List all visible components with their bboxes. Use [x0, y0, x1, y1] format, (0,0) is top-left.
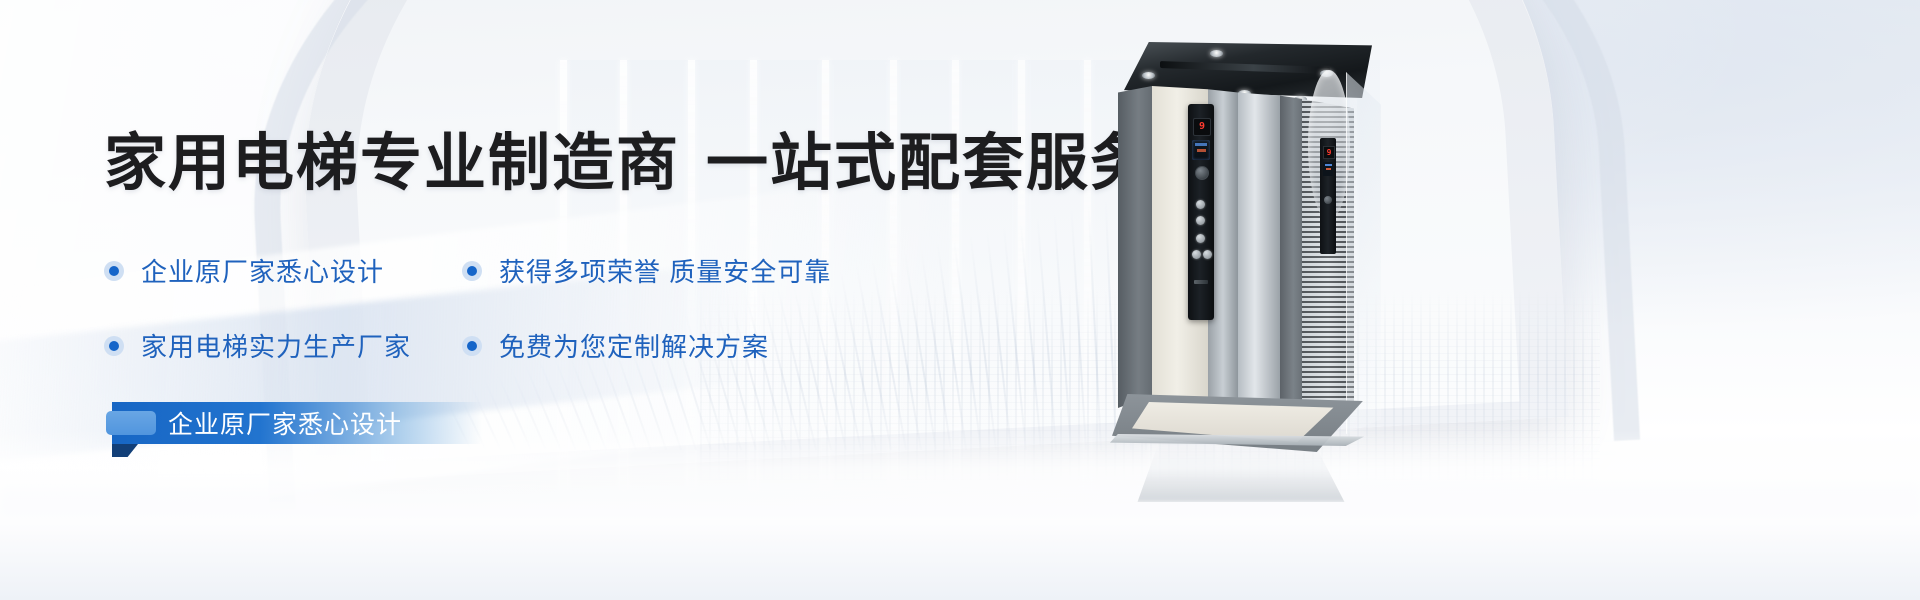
door-open-button[interactable]: [1192, 250, 1201, 259]
brand-plate: [1194, 280, 1208, 284]
floor-indicator-display-rear: 9: [1323, 146, 1335, 159]
ceiling-spotlight-icon: [1210, 50, 1223, 57]
list-item: 企业原厂家悉心设计: [104, 252, 462, 289]
floor-indicator-value-rear: 9: [1324, 147, 1334, 158]
feature-row: 企业原厂家悉心设计 获得多项荣誉 质量安全可靠: [104, 252, 1004, 289]
bullet-dot-icon: [462, 336, 482, 356]
floor-button[interactable]: [1196, 200, 1205, 209]
feature-list: 企业原厂家悉心设计 获得多项荣誉 质量安全可靠 家用电梯实力生产厂家 免费为您定…: [104, 252, 1004, 402]
speaker-icon: [1195, 166, 1209, 180]
wall-panel-left: [1118, 86, 1152, 408]
floor-button[interactable]: [1196, 216, 1205, 225]
feature-label: 免费为您定制解决方案: [499, 327, 769, 364]
tab-marker-icon: [106, 411, 156, 435]
bullet-dot-icon: [104, 261, 124, 281]
bullet-dot-icon: [104, 336, 124, 356]
tab-notch-icon: [112, 444, 138, 457]
highlight-tab[interactable]: 企业原厂家悉心设计: [112, 402, 482, 444]
feature-label: 获得多项荣誉 质量安全可靠: [499, 252, 831, 289]
floor-indicator-value: 9: [1199, 122, 1205, 132]
speaker-icon-rear: [1324, 196, 1332, 204]
floor-button[interactable]: [1196, 234, 1205, 243]
wall-panel-dark: [1280, 86, 1302, 408]
feature-label: 家用电梯实力生产厂家: [141, 327, 411, 364]
ceiling-spotlight-icon: [1142, 72, 1155, 79]
list-item: 获得多项荣誉 质量安全可靠: [462, 252, 831, 289]
floor-indicator-display: 9: [1193, 118, 1211, 136]
control-panel-rear[interactable]: 9: [1320, 138, 1336, 254]
hero-banner: 家用电梯专业制造商一站式配套服务 企业原厂家悉心设计 获得多项荣誉 质量安全可靠…: [0, 0, 1920, 600]
elevator-product-image: 9 9: [1118, 42, 1378, 420]
headline-part-1: 家用电梯专业制造商: [104, 129, 680, 198]
door-close-button[interactable]: [1203, 250, 1212, 259]
headline-part-2: 一站式配套服务: [706, 129, 1154, 198]
list-item: 免费为您定制解决方案: [462, 327, 769, 364]
feature-row: 家用电梯实力生产厂家 免费为您定制解决方案: [104, 327, 1004, 364]
ceiling-light-strip: [1160, 61, 1330, 74]
banner-content: 家用电梯专业制造商一站式配套服务 企业原厂家悉心设计 获得多项荣誉 质量安全可靠…: [0, 0, 1120, 600]
tab-label: 企业原厂家悉心设计: [168, 405, 402, 441]
elevator-cabin: 9 9: [1118, 42, 1378, 420]
elevator-glass-side: [1346, 72, 1381, 434]
page-title: 家用电梯专业制造商一站式配套服务: [104, 112, 1154, 202]
bullet-dot-icon: [462, 261, 482, 281]
list-item: 家用电梯实力生产厂家: [104, 327, 462, 364]
feature-label: 企业原厂家悉心设计: [141, 252, 384, 289]
control-panel[interactable]: 9: [1188, 104, 1214, 320]
lcd-screen: [1192, 140, 1210, 160]
lcd-screen-rear: [1323, 162, 1333, 176]
wall-panel-steel-2: [1238, 86, 1280, 408]
